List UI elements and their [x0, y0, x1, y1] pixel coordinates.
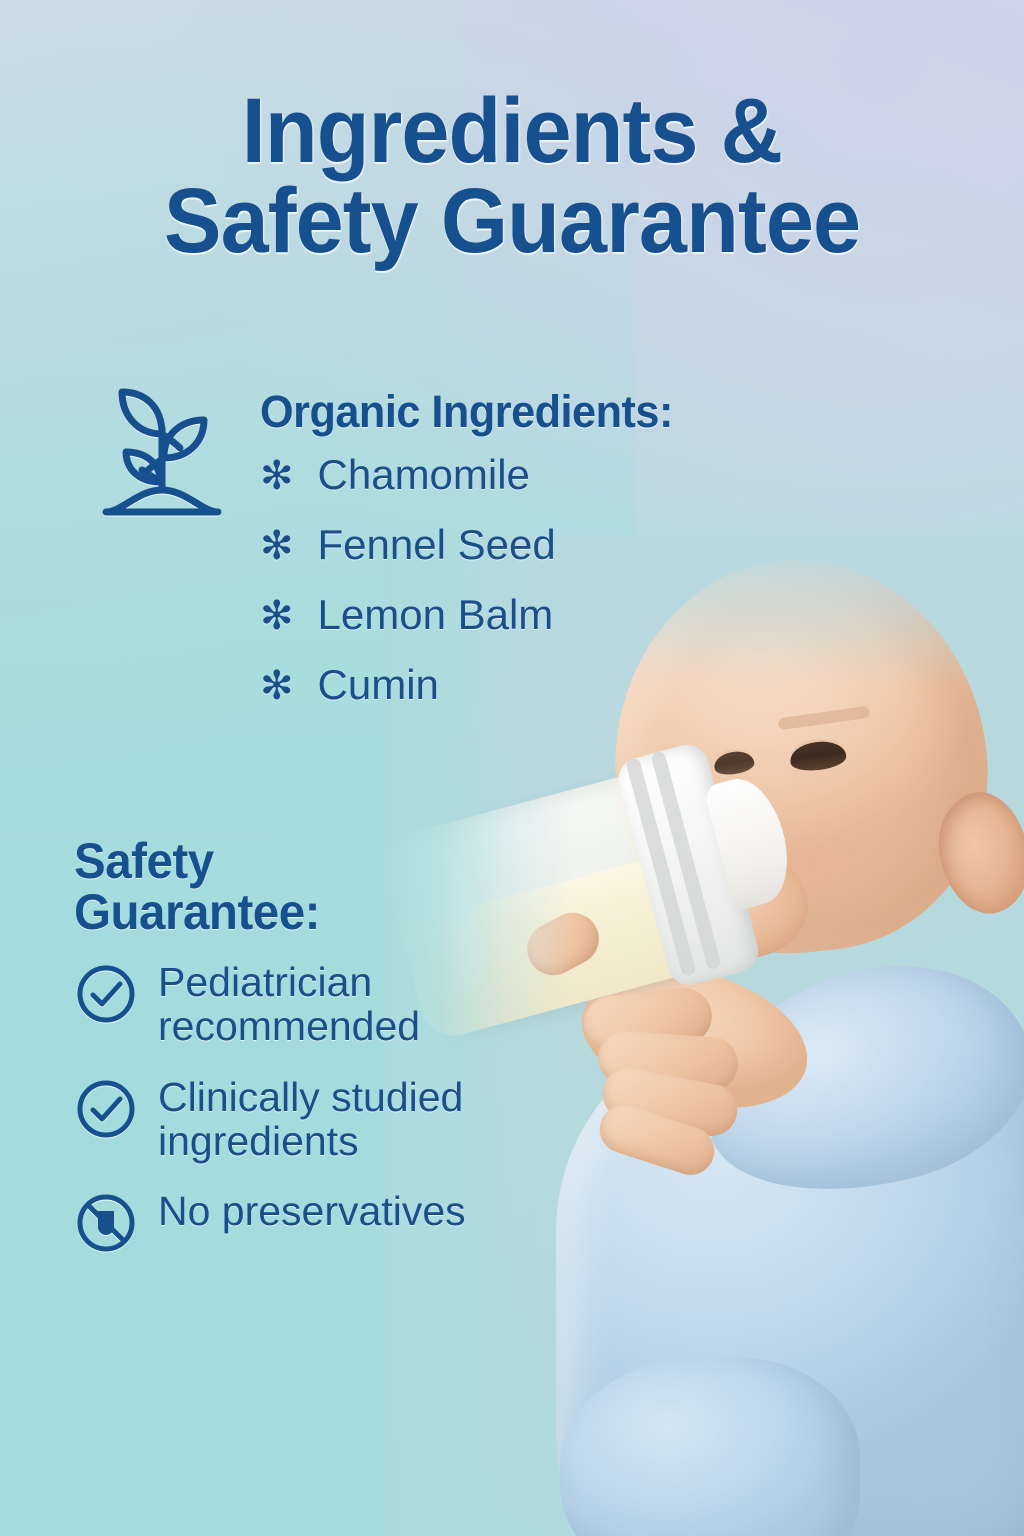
safety-label: Clinically studied ingredients: [158, 1075, 578, 1164]
safety-guarantee-section: Safety Guarantee: Pediatrician recommend…: [74, 836, 594, 1281]
safety-guarantee-heading: Safety Guarantee:: [74, 836, 568, 938]
list-item: ✻ Chamomile: [260, 454, 912, 496]
safety-heading-line-2: Guarantee:: [74, 887, 568, 938]
ingredient-label: Fennel Seed: [318, 524, 556, 566]
ingredient-label: Lemon Balm: [318, 594, 554, 636]
safety-label: No preservatives: [158, 1189, 466, 1233]
list-item: ✻ Cumin: [260, 664, 912, 706]
asterisk-bullet-icon: ✻: [260, 666, 294, 706]
ingredient-label: Cumin: [318, 664, 439, 706]
list-item: No preservatives: [74, 1189, 594, 1255]
list-item: Pediatrician recommended: [74, 960, 594, 1049]
organic-text-column: Organic Ingredients: ✻ Chamomile ✻ Fenne…: [260, 372, 912, 734]
asterisk-bullet-icon: ✻: [260, 456, 294, 496]
asterisk-bullet-icon: ✻: [260, 526, 294, 566]
page-title-line-2: Safety Guarantee: [31, 176, 994, 266]
list-item: Clinically studied ingredients: [74, 1075, 594, 1164]
no-preservatives-icon: [74, 1191, 138, 1255]
organic-ingredients-heading: Organic Ingredients:: [260, 386, 886, 438]
asterisk-bullet-icon: ✻: [260, 596, 294, 636]
check-circle-icon: [74, 962, 138, 1026]
organic-ingredients-section: Organic Ingredients: ✻ Chamomile ✻ Fenne…: [92, 372, 912, 734]
content-layer: Ingredients & Safety Guarantee Organic I…: [0, 0, 1024, 1536]
safety-list: Pediatrician recommended Clinically stud…: [74, 960, 594, 1255]
ingredient-label: Chamomile: [318, 454, 530, 496]
poster-canvas: Ingredients & Safety Guarantee Organic I…: [0, 0, 1024, 1536]
check-circle-icon: [74, 1077, 138, 1141]
sprout-icon: [92, 372, 232, 522]
safety-heading-line-1: Safety: [74, 836, 568, 887]
list-item: ✻ Lemon Balm: [260, 594, 912, 636]
list-item: ✻ Fennel Seed: [260, 524, 912, 566]
page-title-line-1: Ingredients &: [31, 86, 994, 176]
safety-label: Pediatrician recommended: [158, 960, 578, 1049]
page-title: Ingredients & Safety Guarantee: [31, 86, 994, 266]
ingredients-list: ✻ Chamomile ✻ Fennel Seed ✻ Lemon Balm ✻…: [260, 454, 912, 706]
